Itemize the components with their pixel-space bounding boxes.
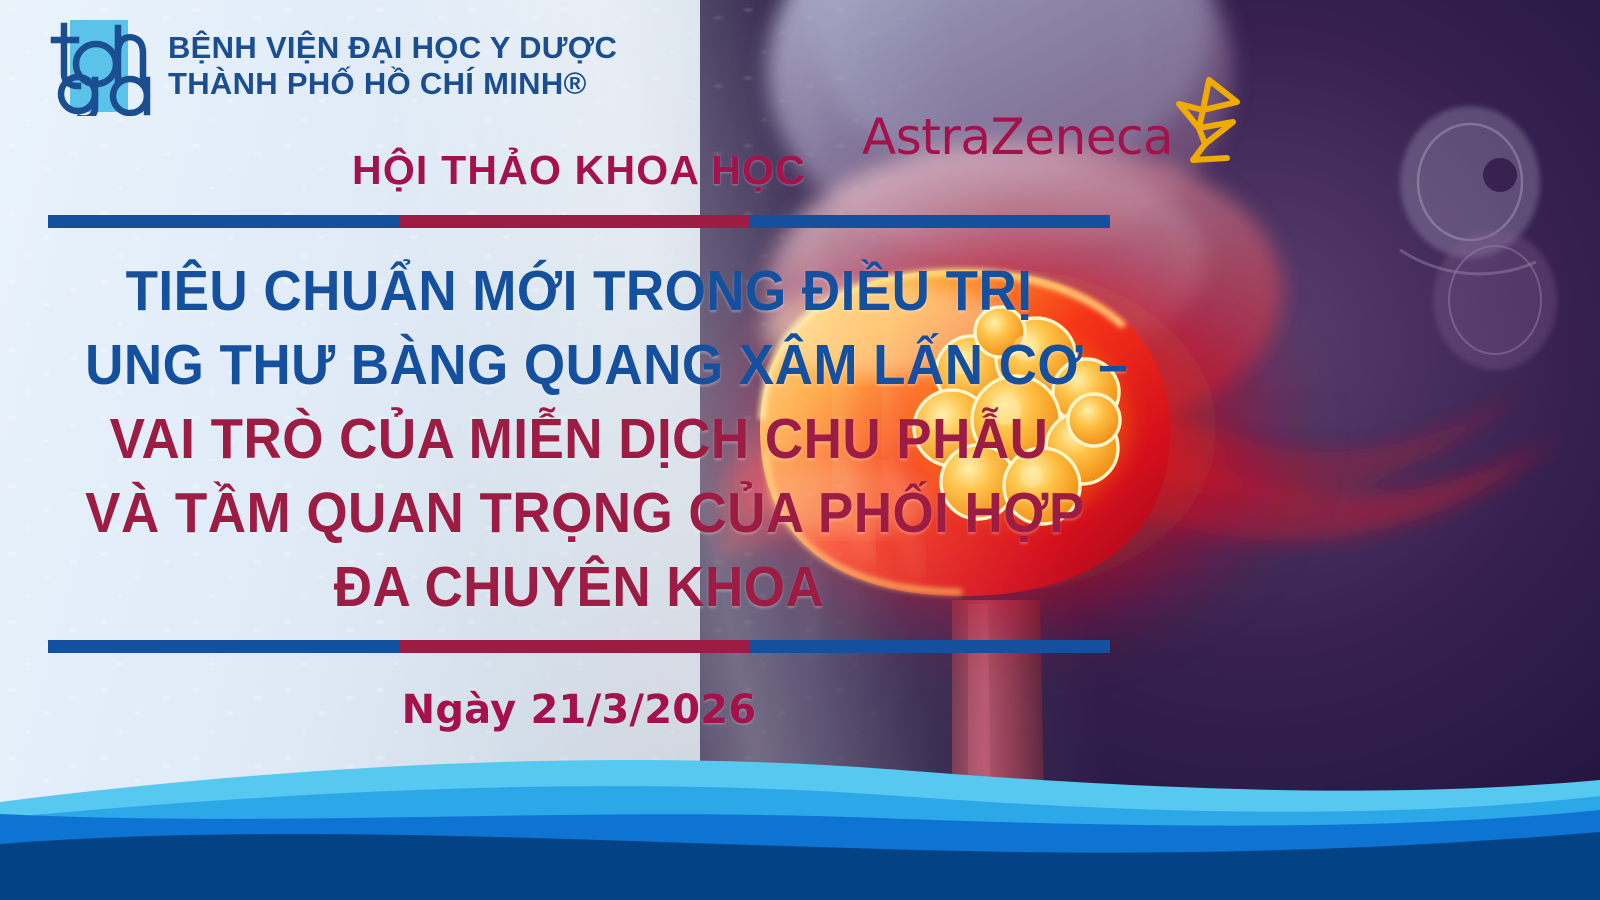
hospital-name-line1: BỆNH VIỆN ĐẠI HỌC Y DƯỢC	[168, 30, 617, 66]
hospital-name-line2: THÀNH PHỐ HỒ CHÍ MINH®	[168, 66, 617, 102]
rule-segment-blue-left	[48, 640, 400, 653]
bvdh-monogram-logo	[44, 16, 152, 116]
title-line-3: VAI TRÒ CỦA MIỄN DỊCH CHU PHẪU	[85, 402, 1073, 476]
title-line-2: UNG THƯ BÀNG QUANG XÂM LẤN CƠ –	[85, 328, 1073, 402]
hospital-logo-block: BỆNH VIỆN ĐẠI HỌC Y DƯỢC THÀNH PHỐ HỒ CH…	[44, 16, 617, 116]
title-line-5: ĐA CHUYÊN KHOA	[85, 550, 1073, 624]
rule-segment-crimson	[400, 215, 750, 228]
headline-block: HỘI THẢO KHOA HỌC TIÊU CHUẨN MỚI TRONG Đ…	[48, 150, 1110, 733]
title-line-4: VÀ TẦM QUAN TRỌNG CỦA PHỐI HỢP	[85, 476, 1073, 550]
rule-bottom	[48, 640, 1110, 653]
wave-decoration	[0, 740, 1600, 900]
rule-segment-crimson	[400, 640, 750, 653]
rule-top	[48, 215, 1110, 228]
hospital-name: BỆNH VIỆN ĐẠI HỌC Y DƯỢC THÀNH PHỐ HỒ CH…	[168, 30, 617, 102]
event-date: Ngày 21/3/2026	[48, 687, 1110, 733]
astrazeneca-ribbon-icon	[1169, 74, 1247, 166]
title-line-1: TIÊU CHUẨN MỚI TRONG ĐIỀU TRỊ	[85, 254, 1073, 328]
rule-segment-blue-right	[750, 215, 1110, 228]
rule-segment-blue-left	[48, 215, 400, 228]
event-title: TIÊU CHUẨN MỚI TRONG ĐIỀU TRỊ UNG THƯ BÀ…	[48, 228, 1110, 640]
event-kicker: HỘI THẢO KHOA HỌC	[48, 150, 1110, 191]
conference-banner: BỆNH VIỆN ĐẠI HỌC Y DƯỢC THÀNH PHỐ HỒ CH…	[0, 0, 1600, 900]
rule-segment-blue-right	[750, 640, 1110, 653]
